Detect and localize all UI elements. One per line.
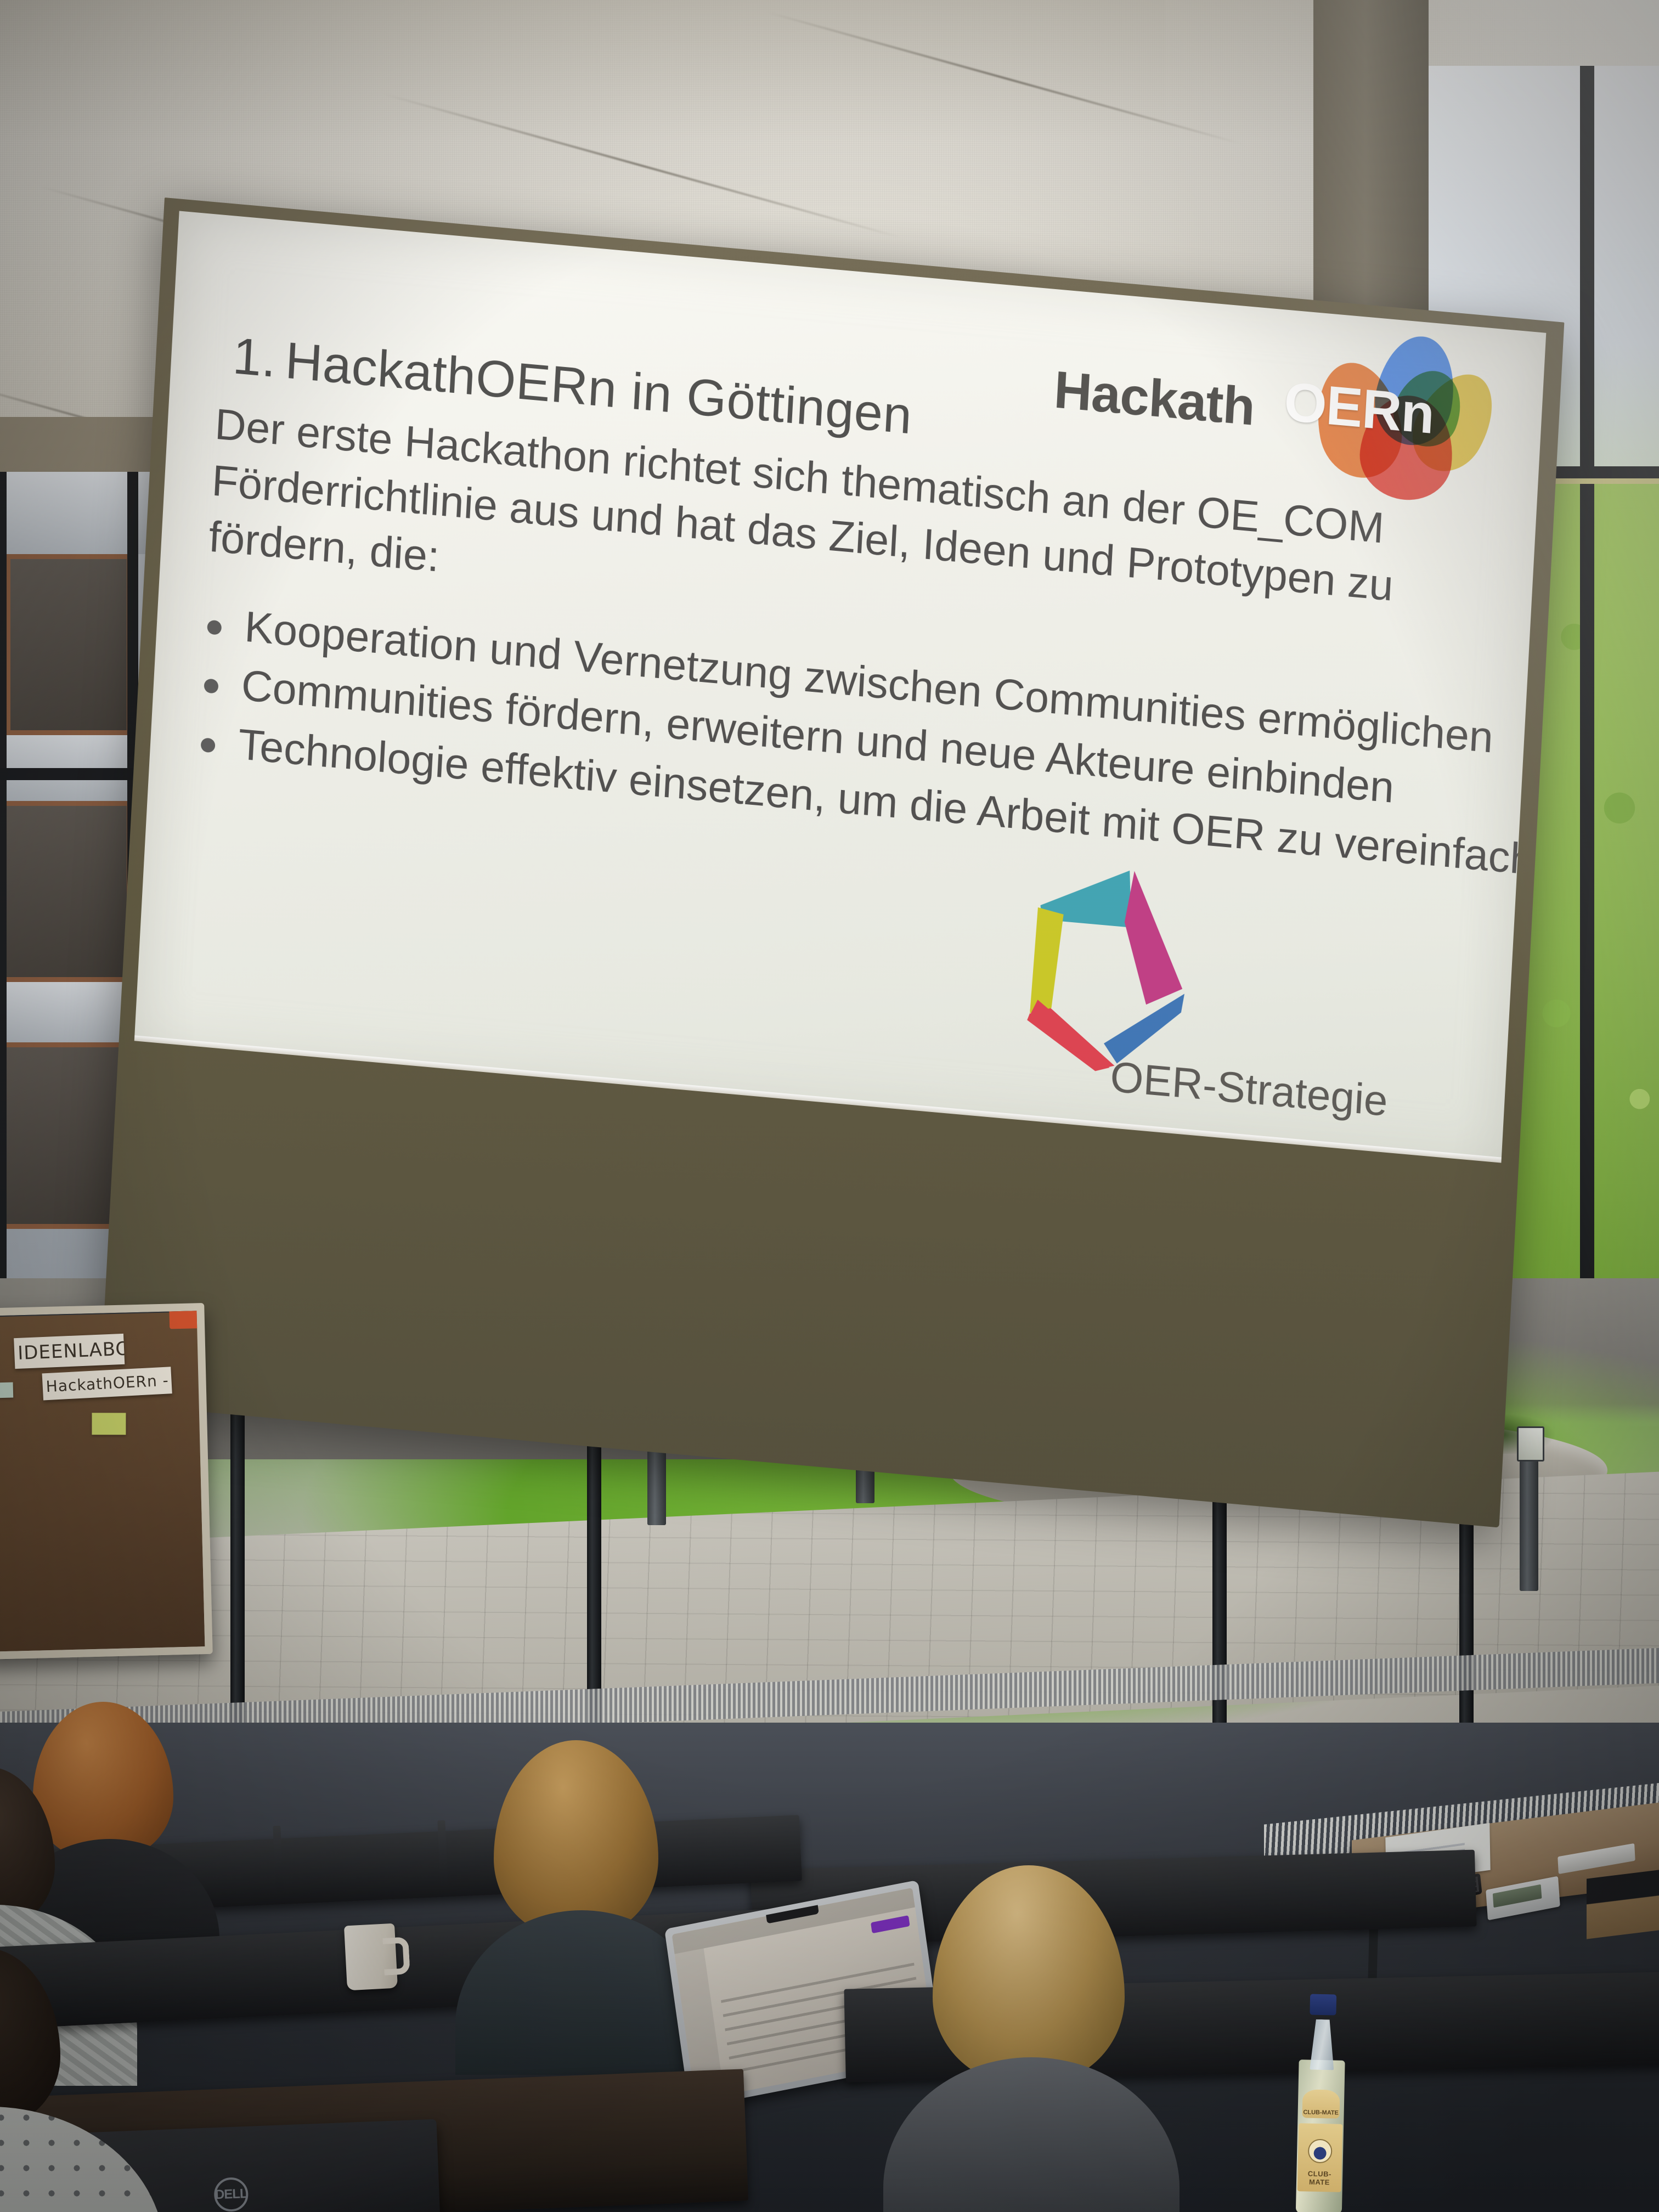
dell-logo-icon: DELL <box>213 2177 249 2212</box>
pinboard: IDEENLABOR HackathOERn - Edition <box>0 1303 213 1660</box>
pinboard-sign-top: IDEENLABOR <box>14 1334 125 1369</box>
hackathoern-word-light: OERn <box>1283 370 1436 447</box>
lecture-hall-photo: Hackath OERn 1.HackathOERn in Göttingen … <box>0 0 1659 2212</box>
projected-slide: Hackath OERn 1.HackathOERn in Göttingen … <box>134 211 1547 1163</box>
sticky-note <box>92 1413 126 1435</box>
facade-window <box>0 1042 126 1229</box>
facade-window <box>0 801 132 982</box>
bollard-light <box>1520 1426 1538 1591</box>
pinboard-clip <box>169 1304 200 1329</box>
audience-seating: DELL <box>0 1799 1659 2212</box>
slide-title-number: 1. <box>232 326 287 390</box>
bottle-shoulder-label: CLUB-MATE <box>1302 2089 1340 2118</box>
coffee-mug <box>344 1923 398 1991</box>
club-mate-bottle: CLUB-MATE CLUB-MATE <box>1294 1994 1348 2212</box>
projection-screen: Hackath OERn 1.HackathOERn in Göttingen … <box>99 198 1564 1527</box>
bottle-label: CLUB-MATE <box>1297 2123 1343 2192</box>
oer-strategie-label: OER-Strategie <box>1109 1052 1389 1126</box>
oer-strategie-logo: OER-Strategie <box>983 833 1380 1141</box>
sticky-note <box>0 1383 13 1398</box>
bottle-neck <box>1310 2019 1335 2070</box>
pinboard-sign-bottom: HackathOERn - Edition <box>42 1367 172 1400</box>
facade-window <box>5 554 132 735</box>
laptop-accent-button <box>871 1915 910 1933</box>
hackathoern-word-dark: Hackath <box>1052 359 1256 437</box>
bottle-label-text: CLUB-MATE <box>1297 2169 1342 2187</box>
bottle-cap <box>1310 1994 1336 2016</box>
window-mullion <box>1580 66 1594 1328</box>
